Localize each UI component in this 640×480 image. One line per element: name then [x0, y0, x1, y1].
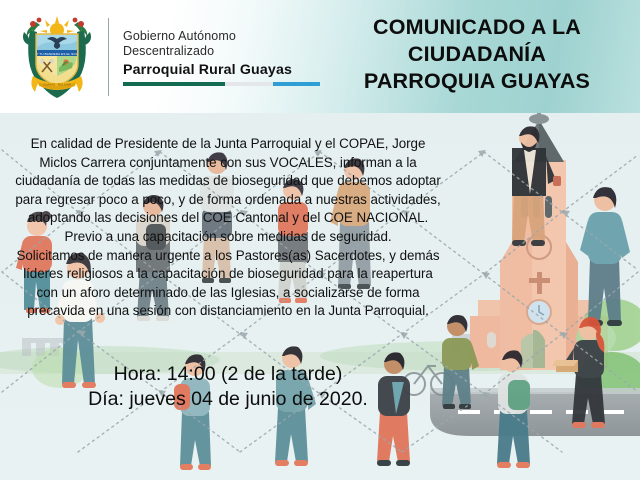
event-time: Hora: 14:00 (2 de la tarde) — [14, 362, 442, 387]
title-line-1: COMUNICADO A LA — [318, 14, 636, 41]
accent-bar-white — [225, 82, 272, 86]
event-schedule: Hora: 14:00 (2 de la tarde) Día: jueves … — [14, 362, 442, 412]
brand-text-block: Gobierno Autónomo Descentralizado Parroq… — [123, 29, 320, 86]
brand-line-2: Descentralizado — [123, 44, 320, 60]
brand-line-1: Gobierno Autónomo — [123, 29, 320, 45]
title-line-2: CIUDADANÍA — [318, 41, 636, 68]
announcement-paragraph-2: Solicitamos de manera urgente a los Past… — [14, 247, 442, 321]
accent-bar-blue — [273, 82, 320, 86]
page-title: COMUNICADO A LA CIUDADANÍA PARROQUIA GUA… — [318, 14, 636, 95]
brand-block: Y TU BANDERA ES EL SOL GUAYAS - BOLIVAR — [18, 10, 320, 104]
svg-text:GUAYAS - BOLIVAR: GUAYAS - BOLIVAR — [43, 83, 71, 87]
header-band: Y TU BANDERA ES EL SOL GUAYAS - BOLIVAR — [0, 0, 640, 113]
announcement-body: En calidad de Presidente de la Junta Par… — [14, 135, 442, 321]
svg-text:Y TU BANDERA ES EL SOL: Y TU BANDERA ES EL SOL — [36, 52, 78, 56]
ecuador-parish-coat-of-arms-icon: Y TU BANDERA ES EL SOL GUAYAS - BOLIVAR — [18, 12, 96, 102]
brand-line-3: Parroquial Rural Guayas — [123, 61, 320, 79]
poster-canvas: Y TU BANDERA ES EL SOL GUAYAS - BOLIVAR — [0, 0, 640, 480]
accent-bar-green — [123, 82, 225, 86]
brand-divider — [108, 18, 109, 96]
event-date: Día: jueves 04 de junio de 2020. — [14, 387, 442, 412]
brand-accent-bar — [123, 82, 320, 86]
announcement-paragraph-1: En calidad de Presidente de la Junta Par… — [14, 135, 442, 247]
title-line-3: PARROQUIA GUAYAS — [318, 68, 636, 95]
